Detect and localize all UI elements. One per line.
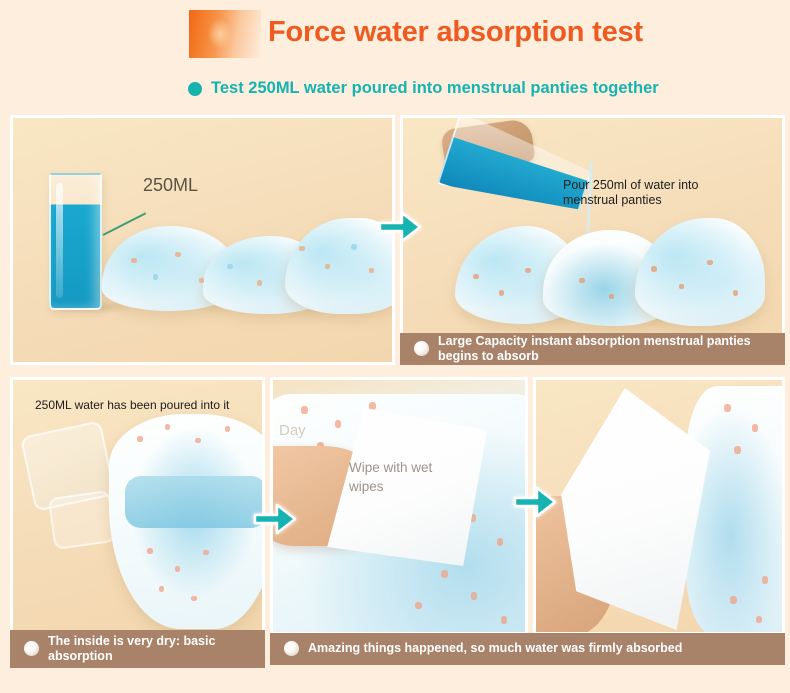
dry-wipe-result-photo (533, 377, 785, 635)
fabric-speck (257, 280, 262, 286)
fabric-speck (227, 264, 233, 269)
photo-backdrop (536, 380, 782, 632)
arrow-panel4-to-panel5 (513, 483, 557, 521)
caption-panel-4-5: Amazing things happened, so much water w… (270, 633, 785, 665)
page-title: Force water absorption test (268, 16, 643, 49)
fabric-speck (175, 252, 181, 257)
fabric-speck (497, 538, 503, 546)
photo-backdrop: 250ML water has been poured into it (13, 380, 262, 632)
wipe-with-wet-wipes-photo: Day Wipe with wet wipes (270, 377, 528, 635)
fabric-speck (369, 268, 374, 273)
fabric-speck (762, 576, 768, 584)
caption-text: Large Capacity instant absorption menstr… (438, 334, 775, 364)
fabric-speck (756, 616, 762, 623)
caption-panel-3: The inside is very dry: basic absorption (10, 630, 265, 668)
photo-backdrop: Day Wipe with wet wipes (273, 380, 525, 632)
fabric-speck (579, 278, 585, 283)
photo-backdrop: 250ML (13, 118, 392, 362)
logo-glow (208, 19, 232, 50)
beaker-and-panties-photo: 250ML (10, 115, 395, 365)
beaker-highlight (56, 183, 63, 298)
fabric-speck (679, 284, 684, 289)
fabric-speck (325, 264, 330, 269)
annotation-pour-250ml: Pour 250ml of water into menstrual panti… (563, 178, 723, 208)
pouring-water-photo: Pour 250ml of water into menstrual panti… (400, 115, 785, 365)
arrow-panel3-to-panel4 (253, 500, 297, 538)
fabric-speck (734, 446, 741, 454)
fabric-speck (299, 246, 305, 251)
photo-backdrop: Pour 250ml of water into menstrual panti… (403, 118, 782, 362)
day-watermark: Day (279, 422, 306, 439)
fabric-speck (335, 420, 341, 428)
fabric-speck (351, 244, 357, 250)
fabric-speck (191, 596, 197, 601)
fabric-speck (501, 616, 507, 624)
panties-fabric-right (635, 218, 765, 326)
fabric-speck (707, 260, 713, 265)
annotation-wipe-with-wet-wipes: Wipe with wet wipes (349, 458, 449, 496)
fabric-speck (301, 406, 308, 414)
water-poured-result-photo: 250ML water has been poured into it (10, 377, 265, 635)
fabric-speck (225, 426, 230, 432)
fabric-speck (153, 274, 158, 280)
fabric-speck (730, 596, 737, 604)
fabric-speck (752, 424, 758, 432)
caption-text: Amazing things happened, so much water w… (308, 641, 682, 656)
fabric-speck (175, 566, 180, 572)
fabric-speck (199, 278, 204, 283)
fabric-speck (203, 550, 209, 555)
fabric-speck (733, 290, 738, 296)
fabric-speck (499, 290, 504, 296)
caption-dot-icon (24, 641, 39, 656)
fabric-speck (369, 402, 376, 410)
caption-dot-icon (414, 341, 429, 356)
fabric-speck (473, 274, 479, 279)
annotation-water-poured: 250ML water has been poured into it (35, 398, 260, 413)
annotation-250ml: 250ML (143, 175, 198, 196)
fabric-speck (441, 570, 448, 578)
beaker-with-blue-water (49, 173, 102, 310)
fabric-speck (415, 602, 422, 609)
fabric-speck (525, 268, 531, 273)
fabric-speck (165, 424, 170, 430)
teal-dot-icon (188, 82, 202, 96)
fabric-speck (147, 548, 153, 554)
fabric-speck (159, 586, 164, 592)
fabric-speck (131, 258, 137, 263)
orange-gradient-bar-icon (189, 10, 261, 58)
arrow-panel1-to-panel2 (378, 208, 422, 246)
caption-dot-icon (284, 641, 299, 656)
fabric-speck (137, 436, 143, 442)
fabric-speck (724, 404, 731, 412)
caption-text: The inside is very dry: basic absorption (48, 634, 255, 664)
fabric-speck (609, 294, 614, 299)
empty-glass-lid (48, 490, 117, 550)
fabric-speck (651, 266, 657, 272)
page-subtitle: Test 250ML water poured into menstrual p… (211, 79, 659, 98)
fabric-speck (471, 592, 477, 600)
page-header: Force water absorption test Test 250ML w… (0, 0, 790, 108)
subtitle-row: Test 250ML water poured into menstrual p… (188, 79, 659, 98)
fabric-speck (195, 438, 201, 443)
caption-panel-2: Large Capacity instant absorption menstr… (400, 333, 785, 365)
panties-absorbent-core (125, 476, 265, 528)
